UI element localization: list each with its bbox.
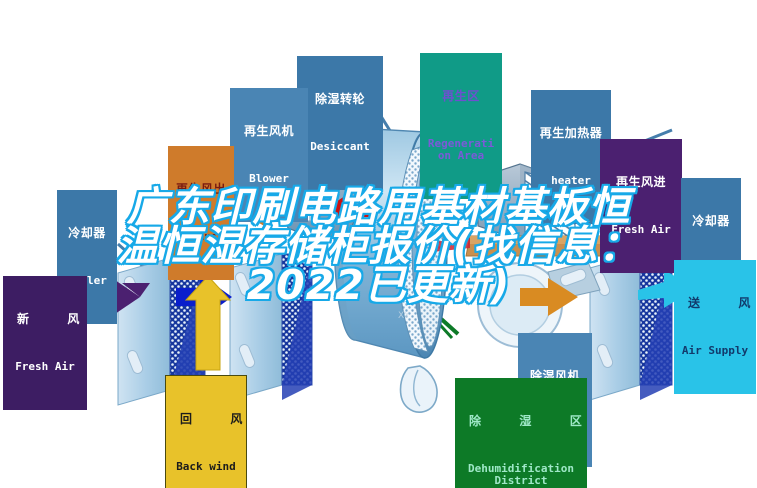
label-exhaust-en: Exhaust: [172, 231, 230, 243]
label-back-wind-en: Back wind: [170, 461, 242, 473]
label-regeneration-air-inlet-cn: 再生风进: [604, 176, 678, 189]
label-dehumidification-district[interactable]: 除 湿 区 Dehumidification District: [455, 378, 587, 488]
label-back-wind[interactable]: 回 风 Back wind: [165, 375, 247, 488]
label-air-supply-cn: 送 风: [678, 297, 752, 310]
label-dehumidification-district-en: Dehumidification District: [459, 463, 583, 487]
label-regeneration-air-inlet[interactable]: 再生风进 Fresh Air: [600, 139, 682, 273]
label-regeneration-heater-cn: 再生加热器: [535, 127, 607, 140]
label-fresh-air-inlet-cn: 新 风: [7, 313, 83, 326]
label-fresh-air-inlet[interactable]: 新 风 Fresh Air: [3, 276, 87, 410]
diagram-canvas: XY: [0, 0, 757, 488]
label-air-supply-en: Air Supply: [678, 345, 752, 357]
label-regeneration-heater-en: heater: [535, 175, 607, 187]
label-cooler-left-cn: 冷却器: [61, 227, 113, 240]
label-regeneration-air-inlet-en: Fresh Air: [604, 224, 678, 236]
label-desiccant-wheel[interactable]: 除湿转轮 Desiccant: [297, 56, 383, 190]
label-exhaust-cn: 再生风出: [172, 183, 230, 196]
label-exhaust[interactable]: 再生风出 Exhaust: [168, 146, 234, 280]
label-dehumidification-district-cn: 除 湿 区: [459, 415, 583, 428]
label-fresh-air-inlet-en: Fresh Air: [7, 361, 83, 373]
label-regeneration-blower-en: Blower: [234, 173, 304, 185]
label-regeneration-blower-cn: 再生风机: [234, 125, 304, 138]
label-regeneration-area-cn: 再生区: [424, 90, 498, 103]
label-regeneration-area-en: Regenerati on Area: [424, 138, 498, 162]
label-cooler-right-cn: 冷却器: [685, 215, 737, 228]
label-air-supply[interactable]: 送 风 Air Supply: [674, 260, 756, 394]
label-regeneration-blower[interactable]: 再生风机 Blower: [230, 88, 308, 222]
label-regeneration-area[interactable]: 再生区 Regenerati on Area: [420, 53, 502, 199]
label-regeneration-heater[interactable]: 再生加热器 heater: [531, 90, 611, 224]
svg-text:XY: XY: [398, 311, 410, 321]
label-desiccant-wheel-cn: 除湿转轮: [301, 93, 379, 106]
label-back-wind-cn: 回 风: [170, 413, 242, 426]
label-desiccant-wheel-en: Desiccant: [301, 141, 379, 153]
